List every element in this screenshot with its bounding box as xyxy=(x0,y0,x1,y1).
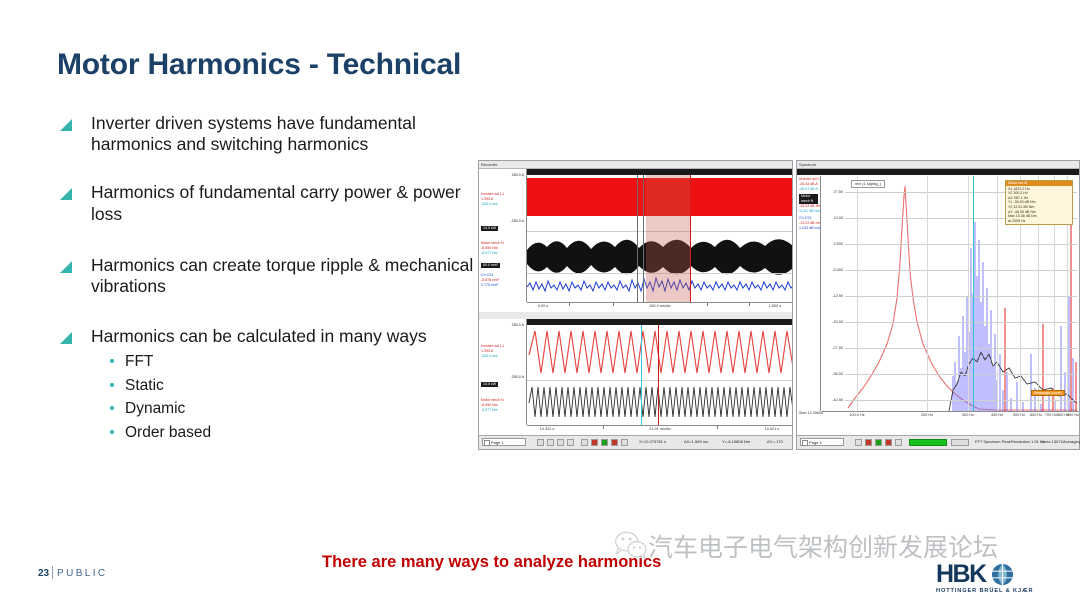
axis-tick-label: 21.91 ms/div xyxy=(649,427,671,431)
page-number: 23 xyxy=(38,568,49,579)
bullet-text: Harmonics can be calculated in many ways xyxy=(91,326,478,347)
y-tick-label: -35.00 xyxy=(832,372,843,376)
reading-value: 12.61 dB Nm xyxy=(799,209,818,214)
bullet-item: Harmonics of fundamental carry power & p… xyxy=(58,182,478,224)
axis-tick-label: 900 Hz xyxy=(1067,413,1079,417)
spectrum-cursor-cyan[interactable] xyxy=(973,176,974,411)
transport-button-first[interactable] xyxy=(855,439,862,446)
transport-button-last[interactable] xyxy=(621,439,628,446)
reading-value: -830.0 mA xyxy=(481,354,524,359)
triangle-bullet-icon xyxy=(60,188,72,200)
spectrum-start-readout: Start 12.49608 xyxy=(799,411,823,415)
scale-top: 250.0 A xyxy=(481,323,524,328)
transport-button-play[interactable] xyxy=(611,439,618,446)
classification-label: PUBLIC xyxy=(57,568,108,579)
axis-tick-label: 600 Hz xyxy=(1030,413,1042,417)
reading-value: -6.577 Nm xyxy=(481,408,524,413)
page-label: Page 1 xyxy=(809,440,822,445)
value-chip: 60.0 m/s² xyxy=(481,263,500,268)
transport-button-next[interactable] xyxy=(557,439,564,446)
gridline xyxy=(845,270,1077,271)
lower-scope-time-axis: 10.322 s 21.91 ms/div 10.621 s xyxy=(527,425,792,435)
scope-top-time-axis: 0.00 s 150.0 ms/div 1.500 s xyxy=(527,302,792,312)
lower-scope-waveforms xyxy=(527,325,792,425)
y-tick-label: -20.00 xyxy=(832,320,843,324)
page-title: Motor Harmonics - Technical xyxy=(57,48,461,82)
gridline xyxy=(845,348,1077,349)
transport-button-stop[interactable] xyxy=(601,439,608,446)
hbk-wordmark: HBK xyxy=(936,562,1033,587)
transport-button-play[interactable] xyxy=(885,439,892,446)
gridline xyxy=(845,244,1077,245)
axis-tick-label: 500 Hz xyxy=(1013,413,1025,417)
gridline xyxy=(857,176,858,411)
tagline: There are many ways to analyze harmonics xyxy=(322,553,661,572)
mode-readout: FFT Spectrum Peak xyxy=(975,439,1011,444)
scope-cursor-grey[interactable] xyxy=(637,175,638,302)
reading-value: -830.0 mA xyxy=(481,202,524,207)
gridline xyxy=(845,322,1077,323)
gridline xyxy=(968,176,969,411)
cursor-readout-header: Motor out M xyxy=(1006,181,1072,186)
sub-bullet-item: Dynamic xyxy=(110,397,478,421)
hbk-logo: HBK HOTTINGER BRÜEL & KJÆR xyxy=(936,562,1033,594)
wechat-icon xyxy=(614,530,648,560)
y-tick-label: 10.00 xyxy=(833,216,843,220)
bullet-text: Harmonics of fundamental carry power & p… xyxy=(91,182,478,224)
scope-top-plot[interactable] xyxy=(527,175,792,302)
value-chip: 14.5 kW xyxy=(481,382,498,387)
axis-tick xyxy=(613,303,614,306)
spectrum-header-bar xyxy=(797,169,1079,175)
sub-bullet-item: FFT xyxy=(110,350,478,374)
axis-tick xyxy=(717,426,718,429)
scale-bottom: -250.0 A xyxy=(481,375,524,380)
y-tick-label: -5.000 xyxy=(832,268,843,272)
x-readout: X=10.279781 s xyxy=(639,439,666,444)
globe-icon xyxy=(991,563,1014,586)
scale-top: 250.0 A xyxy=(481,173,524,178)
page-checkbox[interactable] xyxy=(802,440,808,446)
scale-bottom: -250.0 A xyxy=(481,219,524,224)
gridline xyxy=(845,296,1077,297)
spectrum-status-bar: Page 1 FFT Spectrum Peak Resolution 1.91… xyxy=(797,435,1079,449)
watermark-text: 汽车电子电气架构创新发展论坛 xyxy=(648,528,998,564)
spectrum-plot[interactable]: mm (1 sigbkg_) Motor out M X1 1823.2 Hz … xyxy=(845,176,1077,411)
spectrum-frequency-axis: 100.0 Hz 200 Hz 300 Hz 400 Hz 500 Hz 600… xyxy=(822,411,1079,423)
axis-tick-label: 300 Hz xyxy=(962,413,974,417)
y-tick-label: -12.50 xyxy=(832,294,843,298)
page-checkbox[interactable] xyxy=(484,440,490,446)
bullet-text: Harmonics can create torque ripple & mec… xyxy=(91,255,478,297)
cursor-readout-line: at 2005 Hz xyxy=(1008,219,1070,224)
transport-button-rewind[interactable] xyxy=(591,439,598,446)
scope-cursor-cyan[interactable] xyxy=(641,325,642,425)
axis-tick xyxy=(603,426,604,429)
reading-value: -26.e7 dB A xyxy=(799,187,818,192)
bullet-item: Harmonics can create torque ripple & mec… xyxy=(58,255,478,297)
reading-value: 1.233 dB m/s² xyxy=(799,226,818,231)
dy-readout: ΔY=-170 xyxy=(767,439,783,444)
bullet-text: Inverter driven systems have fundamental… xyxy=(91,113,478,155)
footer-divider xyxy=(52,566,53,579)
axis-tick-label: 400 Hz xyxy=(991,413,1003,417)
hbk-subtitle: HOTTINGER BRÜEL & KJÆR xyxy=(936,588,1033,594)
axis-tick xyxy=(569,303,570,306)
resolution-readout: Resolution 1.91 Hz xyxy=(1011,439,1045,444)
y-readout: Y=-6.15808 Nm xyxy=(722,439,750,444)
axis-tick-label: 200 Hz xyxy=(921,413,933,417)
axis-tick xyxy=(707,303,708,306)
value-chip: 14.5 kW xyxy=(481,226,498,231)
gridline xyxy=(845,400,1077,401)
axis-tick-label: 700 Hz xyxy=(1045,413,1057,417)
axis-tick-label: 1.500 s xyxy=(769,304,781,308)
lower-scope-plot[interactable] xyxy=(527,325,792,425)
rectangle-overlay-tag[interactable]: Rectangle (none) xyxy=(1031,390,1065,396)
transport-button-stop[interactable] xyxy=(875,439,882,446)
page-label: Page 1 xyxy=(491,440,504,445)
axis-tick-label: 10.621 s xyxy=(765,427,780,431)
axis-tick-label: 0.00 s xyxy=(538,304,548,308)
sub-bullet-list: FFT Static Dynamic Order based xyxy=(110,350,478,444)
y-tick-label: 2.500 xyxy=(833,242,843,246)
bullet-item: Harmonics can be calculated in many ways… xyxy=(58,326,478,444)
reading-value: 2.775 m/s² xyxy=(481,283,524,288)
bullet-list: Inverter driven systems have fundamental… xyxy=(58,113,478,464)
triangle-bullet-icon xyxy=(60,261,72,273)
triangle-bullet-icon xyxy=(60,332,72,344)
display-tag[interactable]: mm (1 sigbkg_) xyxy=(851,180,885,188)
transport-button-next-all[interactable] xyxy=(567,439,574,446)
gridline xyxy=(527,380,792,381)
averaging-readout: Averaging Off xyxy=(1063,439,1080,444)
spectrum-window[interactable]: Spectrum Inverter out L1 -26.43 dB A -26… xyxy=(796,160,1080,450)
gridline xyxy=(927,176,928,411)
selection-band[interactable] xyxy=(646,175,690,302)
axis-tick xyxy=(749,303,750,306)
spectrum-y-axis: 27.50 10.00 2.500 -5.000 -12.50 -20.00 -… xyxy=(822,176,844,411)
channel-label: Motor mech N xyxy=(799,194,818,204)
sub-bullet-item: Static xyxy=(110,374,478,398)
instrument-screenshot: Recorder 250.0 A Inverter out L1 1.394 A… xyxy=(478,160,1080,450)
transport-button-prev[interactable] xyxy=(865,439,872,446)
slide-root: Motor Harmonics - Technical Inverter dri… xyxy=(0,0,1080,608)
lower-scope-gutter: 250.0 A Inverter out L1 1.394 A -830.0 m… xyxy=(479,319,527,425)
spectrum-title-bar: Spectrum xyxy=(797,161,1079,169)
scope-cursor-red[interactable] xyxy=(658,325,659,425)
axis-tick-label: 100.0 Hz xyxy=(849,413,864,417)
reading-value: -6.577 Nm xyxy=(481,251,524,256)
axis-tick-label: 150.0 ms/div xyxy=(649,304,671,308)
stop-button[interactable] xyxy=(951,439,969,446)
y-tick-label: -27.50 xyxy=(832,346,843,350)
bullet-item: Inverter driven systems have fundamental… xyxy=(58,113,478,155)
triangle-bullet-icon xyxy=(60,119,72,131)
transport-button-prev[interactable] xyxy=(547,439,554,446)
y-tick-label: 27.50 xyxy=(833,190,843,194)
recorder-status-bar: Page 1 X=10.279781 s ΔX=1.569 ms Y=-6.15… xyxy=(479,435,792,449)
recording-indicator xyxy=(909,439,947,446)
transport-button-last[interactable] xyxy=(895,439,902,446)
scope-cursor-red[interactable] xyxy=(690,175,691,302)
gridline xyxy=(997,176,998,411)
scope-cursor-grey[interactable] xyxy=(643,175,644,302)
gridline xyxy=(845,374,1077,375)
cursor-readout-box[interactable]: Motor out M X1 1823.2 Hz X2 300.2 Hz ΔX … xyxy=(1005,180,1073,225)
y-tick-label: -42.50 xyxy=(832,398,843,402)
scope-top-gutter: 250.0 A Inverter out L1 1.394 A -830.0 m… xyxy=(479,169,527,302)
recorder-title-bar: Recorder xyxy=(479,161,792,169)
transport-button-first[interactable] xyxy=(581,439,588,446)
spectrum-channel-gutter: Inverter out L1 -26.43 dB A -26.e7 dB A … xyxy=(797,176,821,411)
dx-readout: ΔX=1.569 ms xyxy=(684,439,708,444)
sub-bullet-item: Order based xyxy=(110,421,478,445)
lines-readout: Lines 13072 xyxy=(1041,439,1063,444)
axis-tick-label: 10.322 s xyxy=(540,427,555,431)
transport-button-prev-all[interactable] xyxy=(537,439,544,446)
recorder-window[interactable]: Recorder 250.0 A Inverter out L1 1.394 A… xyxy=(478,160,793,450)
